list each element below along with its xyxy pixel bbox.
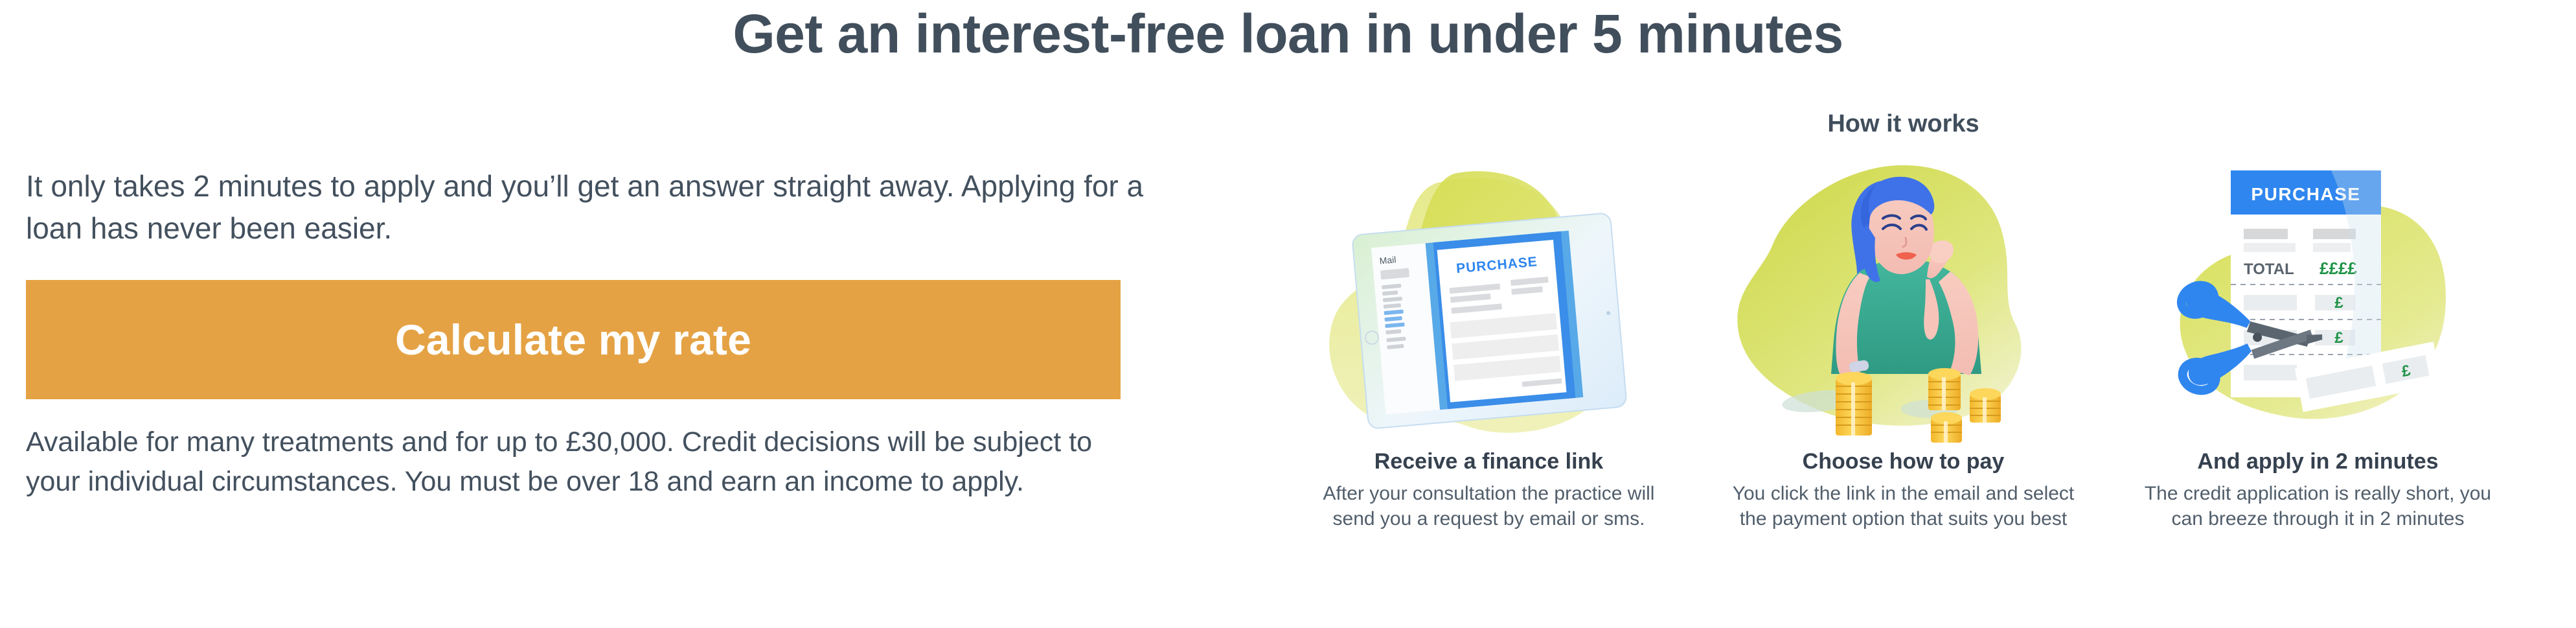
how-it-works-heading: How it works xyxy=(1231,110,2576,138)
offer-column: It only takes 2 minutes to apply and you… xyxy=(26,165,1166,502)
receipt-scissors-icon: PURCHASE TOTAL ££££ xyxy=(2137,147,2500,445)
page-title: Get an interest-free loan in under 5 min… xyxy=(0,5,2576,62)
step-item-apply-in-2-minutes: PURCHASE TOTAL ££££ xyxy=(2111,147,2525,531)
step-description: The credit application is really short, … xyxy=(2137,481,2500,531)
step-title: And apply in 2 minutes xyxy=(2197,448,2438,476)
steps-list: Mail xyxy=(1231,147,2576,531)
svg-text:Mail: Mail xyxy=(1379,254,1396,266)
step-title: Receive a finance link xyxy=(1374,448,1603,476)
woman-with-coins-icon xyxy=(1722,147,2085,445)
step-title: Choose how to pay xyxy=(1803,448,2005,476)
svg-text:£: £ xyxy=(2334,329,2343,347)
svg-text:££££: ££££ xyxy=(2320,259,2357,278)
step-item-choose-how-to-pay: Choose how to pay You click the link in … xyxy=(1696,147,2111,531)
intro-paragraph: It only takes 2 minutes to apply and you… xyxy=(26,165,1146,250)
svg-text:TOTAL: TOTAL xyxy=(2244,261,2294,278)
tablet-email-purchase-icon: Mail xyxy=(1308,147,1670,445)
calculate-my-rate-button[interactable]: Calculate my rate xyxy=(26,280,1121,399)
how-it-works-column: How it works xyxy=(1231,110,2576,531)
step-description: After your consultation the practice wil… xyxy=(1308,481,1670,531)
promo-hero-section: Get an interest-free loan in under 5 min… xyxy=(0,0,2576,628)
step-item-receive-finance-link: Mail xyxy=(1282,147,1696,531)
step-description: You click the link in the email and sele… xyxy=(1722,481,2085,531)
disclaimer-paragraph: Available for many treatments and for up… xyxy=(26,423,1101,502)
svg-text:£: £ xyxy=(2334,294,2343,312)
